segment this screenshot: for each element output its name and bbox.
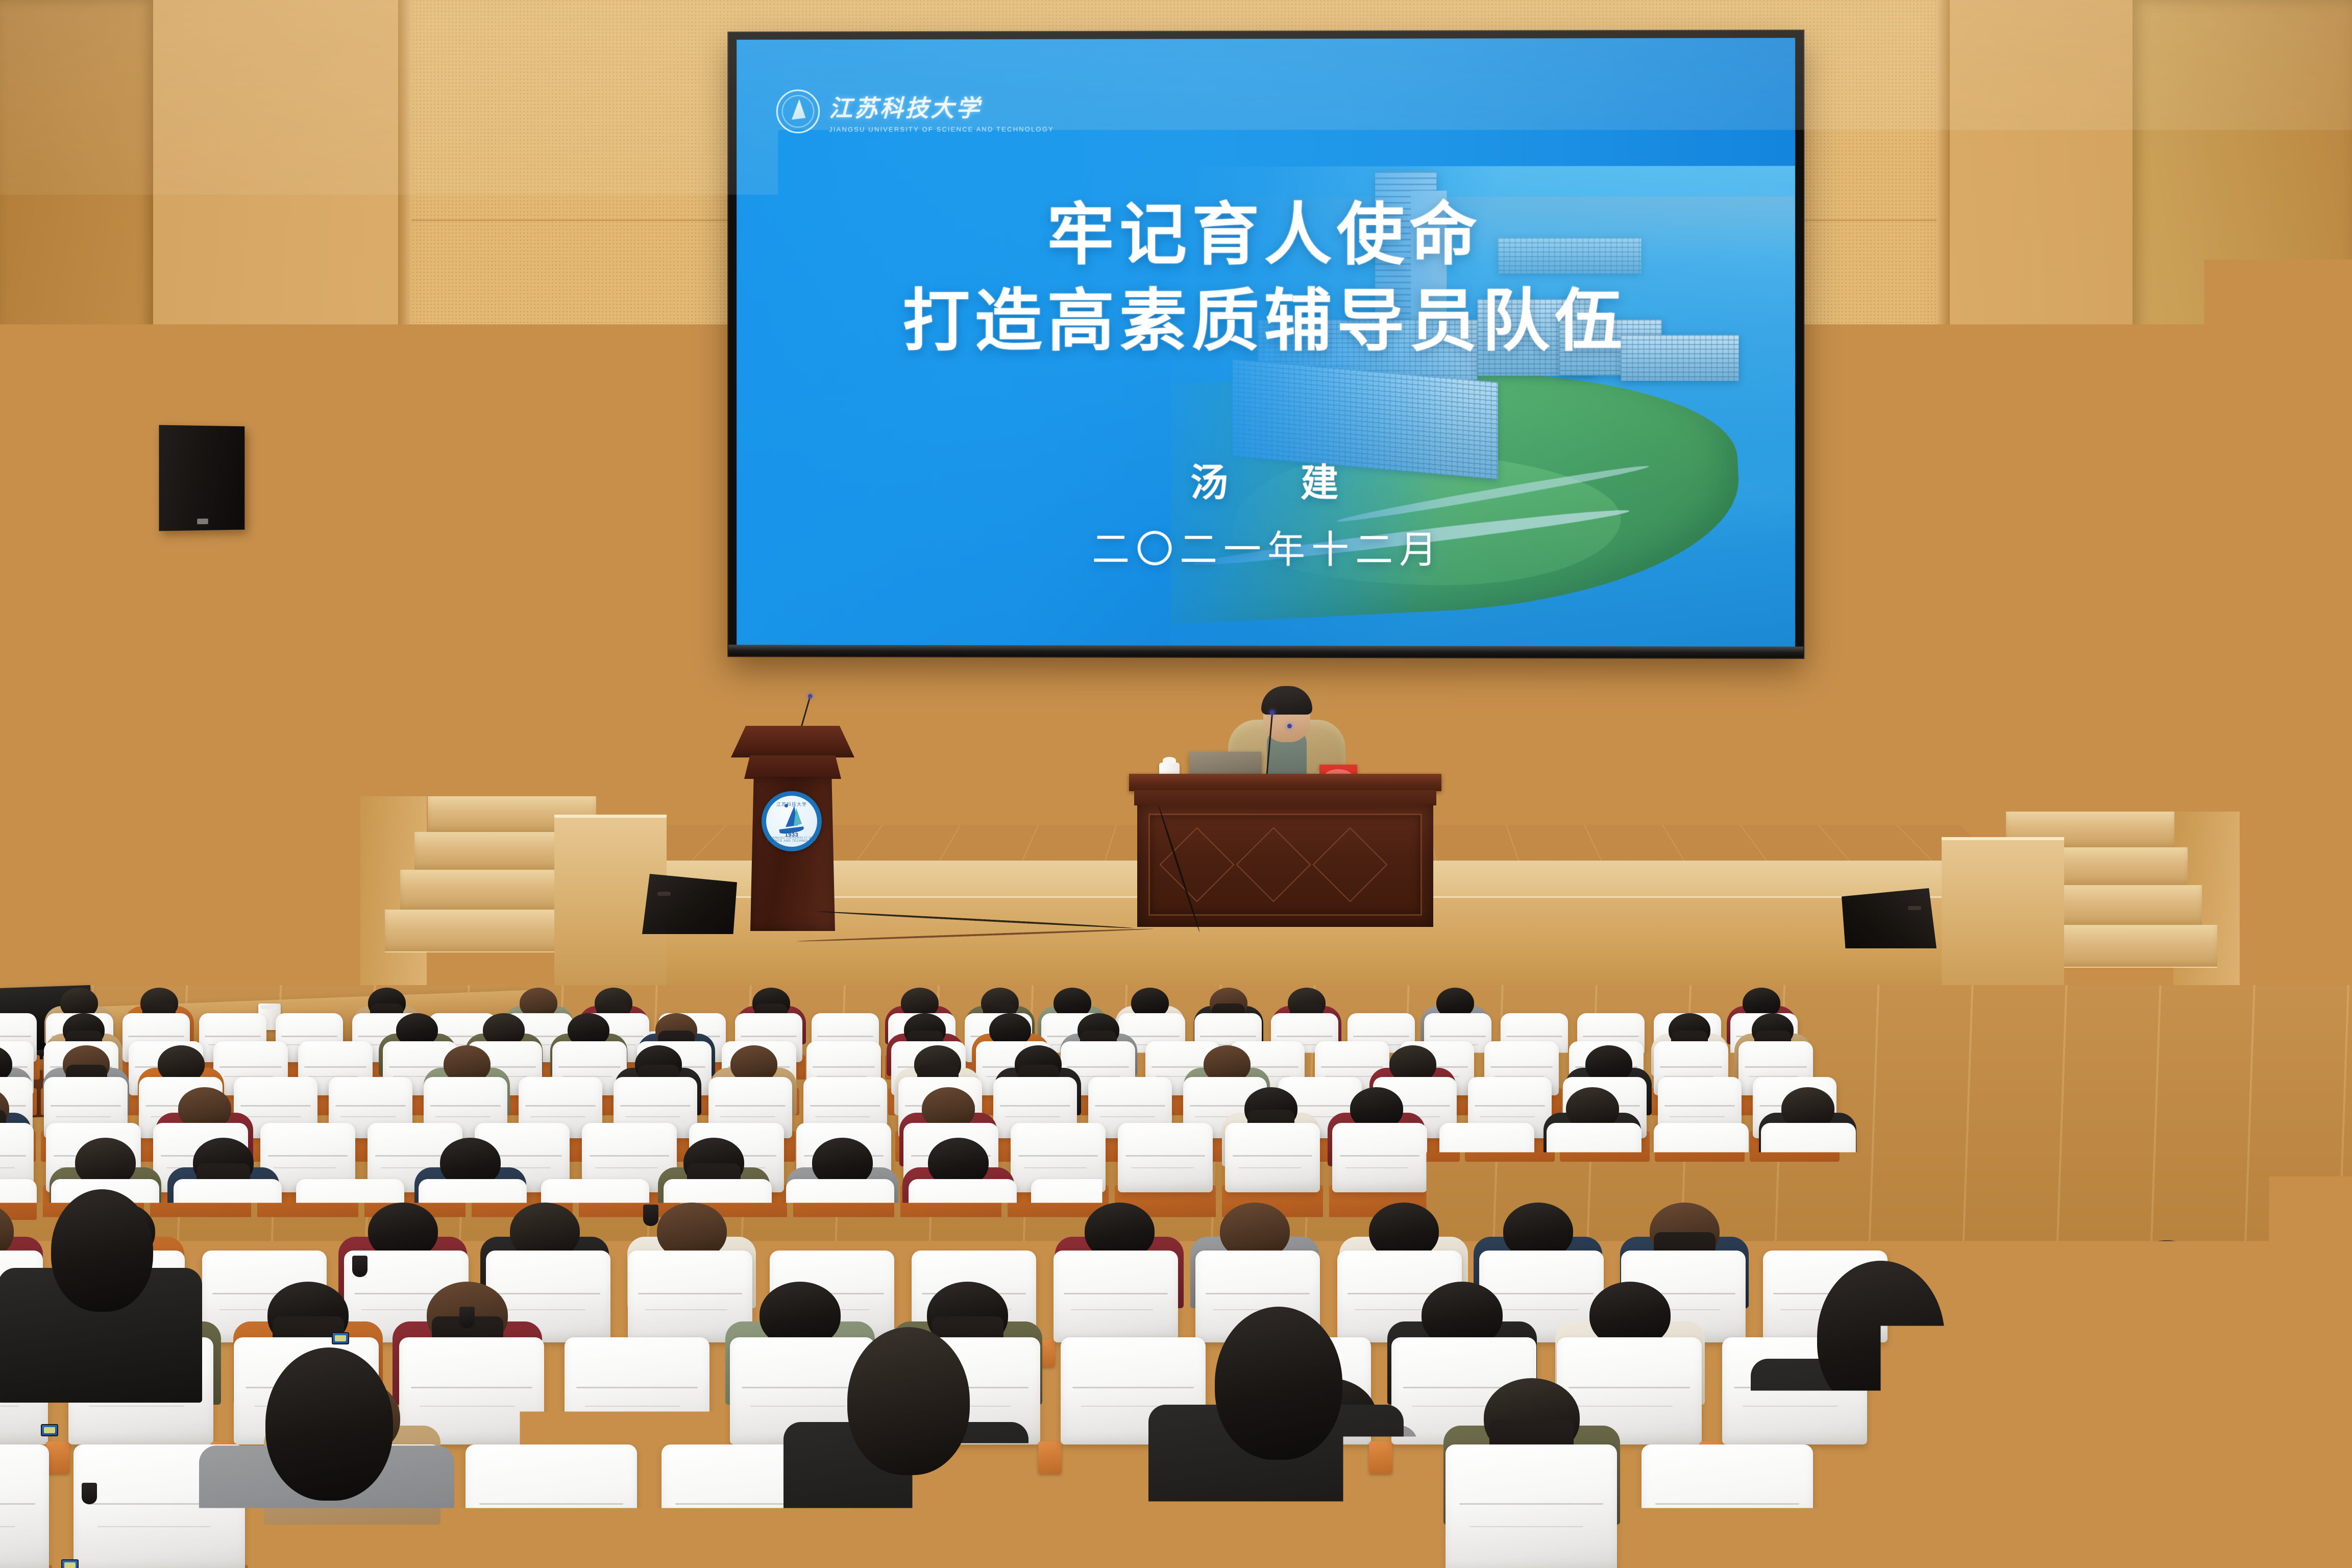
acoustic-panel-frame-right (1937, 0, 1950, 924)
seat-cup-holder (643, 1205, 658, 1226)
audience-seat[interactable] (1445, 1444, 1617, 1568)
slide-title-line-1: 牢记育人使命 (737, 191, 1795, 278)
acoustic-panel-frame-left (398, 0, 411, 924)
slide-title-line-2: 打造高素质辅导员队伍 (737, 278, 1795, 364)
slide-date: 二〇二一年十二月 (737, 519, 1795, 574)
presentation-slide: 江苏科技大学 JIANGSU UNIVERSITY OF SCIENCE AND… (737, 38, 1795, 648)
seat-cup-holder (459, 1307, 475, 1328)
logo-chinese-name: 江苏科技大学 (829, 89, 1054, 123)
wall-speaker-icon (159, 425, 244, 531)
seat-row-number-plate (61, 1559, 79, 1568)
speaker-brand-badge (197, 519, 208, 524)
audience-member-foreground-head (1817, 1261, 1945, 1414)
seat-cup-holder (82, 1483, 97, 1504)
auditorium-scene: 江苏科技大学 JIANGSU UNIVERSITY OF SCIENCE AND… (0, 0, 2352, 1568)
slide-presenter-name: 汤 建 (737, 452, 1795, 507)
stage-monitor-right (1842, 888, 1937, 948)
university-sail-logo-icon (776, 89, 820, 133)
audience-seat[interactable] (1053, 1251, 1178, 1342)
podium-top (731, 726, 854, 757)
left-side-wall (0, 0, 153, 1113)
screen-bezel (728, 645, 1803, 658)
audience-seat[interactable] (0, 1444, 49, 1568)
podium-neck (744, 755, 841, 779)
audience-seat[interactable] (909, 1179, 1017, 1259)
audience-member-foreground-head (51, 1189, 153, 1312)
lectern-podium: 江苏科技大学 1933 JIANGSU UNIVERSITY OF SCIENC… (739, 726, 846, 930)
logo-english-name: JIANGSU UNIVERSITY OF SCIENCE AND TECHNO… (829, 125, 1054, 133)
audience-member-foreground-head (265, 1347, 393, 1501)
audience-seat[interactable] (174, 1179, 282, 1259)
audience-seat[interactable] (1766, 1179, 1874, 1259)
stage-monitor-left (642, 874, 737, 934)
seat-row-number-plate (332, 1332, 349, 1344)
seat-cup-holder (352, 1256, 367, 1277)
audience-seat[interactable] (565, 1337, 709, 1444)
lapel-microphone-icon (1287, 724, 1292, 728)
led-screen: 江苏科技大学 JIANGSU UNIVERSITY OF SCIENCE AND… (728, 31, 1803, 658)
audience-member-foreground-head (847, 1327, 970, 1475)
slide-university-logo: 江苏科技大学 JIANGSU UNIVERSITY OF SCIENCE AND… (776, 89, 1054, 134)
seat-armrest (892, 1256, 910, 1280)
audience-seat[interactable] (465, 1444, 637, 1568)
university-emblem-icon: 江苏科技大学 1933 JIANGSU UNIVERSITY OF SCIENC… (762, 791, 822, 851)
lecture-table (1137, 774, 1433, 927)
seat-row-number-plate (41, 1424, 58, 1436)
audience-member-foreground-head (2103, 1240, 2231, 1393)
audience-seat[interactable] (786, 1179, 894, 1259)
emblem-english-text: JIANGSU UNIVERSITY OF SCIENCE AND TECHNO… (766, 837, 817, 843)
audience-member-foreground-head (1215, 1307, 1342, 1460)
slide-presenter-block: 汤 建 二〇二一年十二月 (737, 452, 1795, 574)
slide-title: 牢记育人使命 打造高素质辅导员队伍 (737, 191, 1795, 364)
seat-armrest (46, 1441, 69, 1474)
